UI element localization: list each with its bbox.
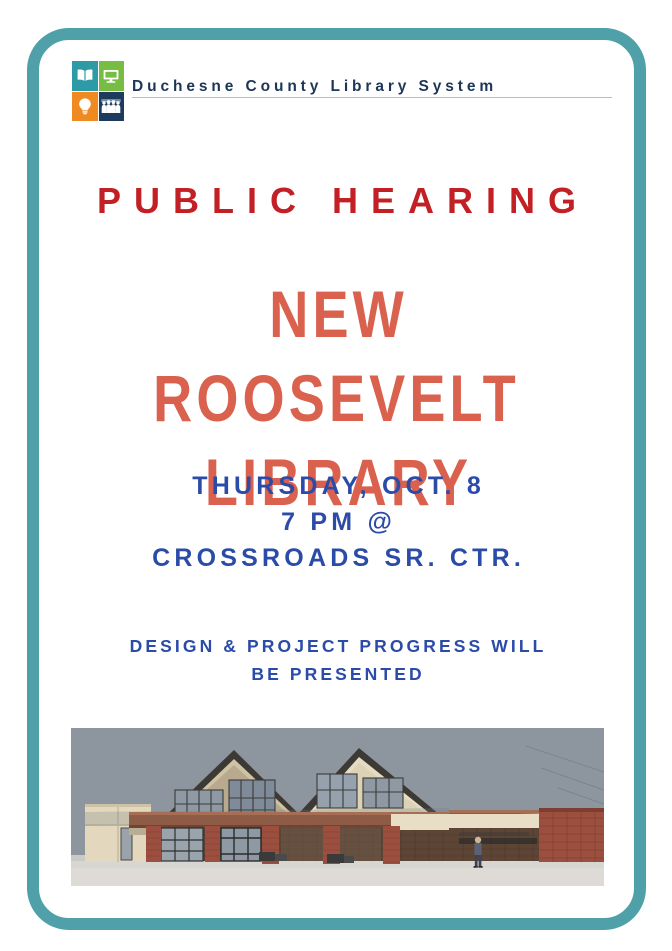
logo-text: Duchesne County Library System [132, 78, 612, 95]
event-location: CROSSROADS SR. CTR. [39, 540, 634, 576]
lightbulb-icon [72, 92, 98, 122]
subnote-line-2: BE PRESENTED [39, 660, 634, 688]
logo-underline [132, 97, 612, 98]
building-rendering-image [71, 728, 604, 886]
computer-monitor-icon [99, 61, 125, 91]
logo-mark [72, 61, 124, 121]
poster: Duchesne County Library System PUBLIC HE… [0, 0, 672, 951]
logo-text-wrap: Duchesne County Library System [132, 78, 612, 98]
event-subnote: DESIGN & PROJECT PROGRESS WILL BE PRESEN… [39, 632, 634, 688]
event-date: THURSDAY, OCT. 8 [39, 468, 634, 504]
open-book-icon [72, 61, 98, 91]
poster-content: Duchesne County Library System PUBLIC HE… [39, 40, 634, 918]
kicker-public-hearing: PUBLIC HEARING [39, 180, 634, 222]
event-details: THURSDAY, OCT. 8 7 PM @ CROSSROADS SR. C… [39, 468, 634, 576]
subnote-line-1: DESIGN & PROJECT PROGRESS WILL [39, 632, 634, 660]
title-line-1: NEW ROOSEVELT [93, 272, 581, 440]
group-of-people-icon [99, 92, 125, 122]
library-logo: Duchesne County Library System [72, 61, 612, 123]
event-time: 7 PM @ [39, 504, 634, 540]
